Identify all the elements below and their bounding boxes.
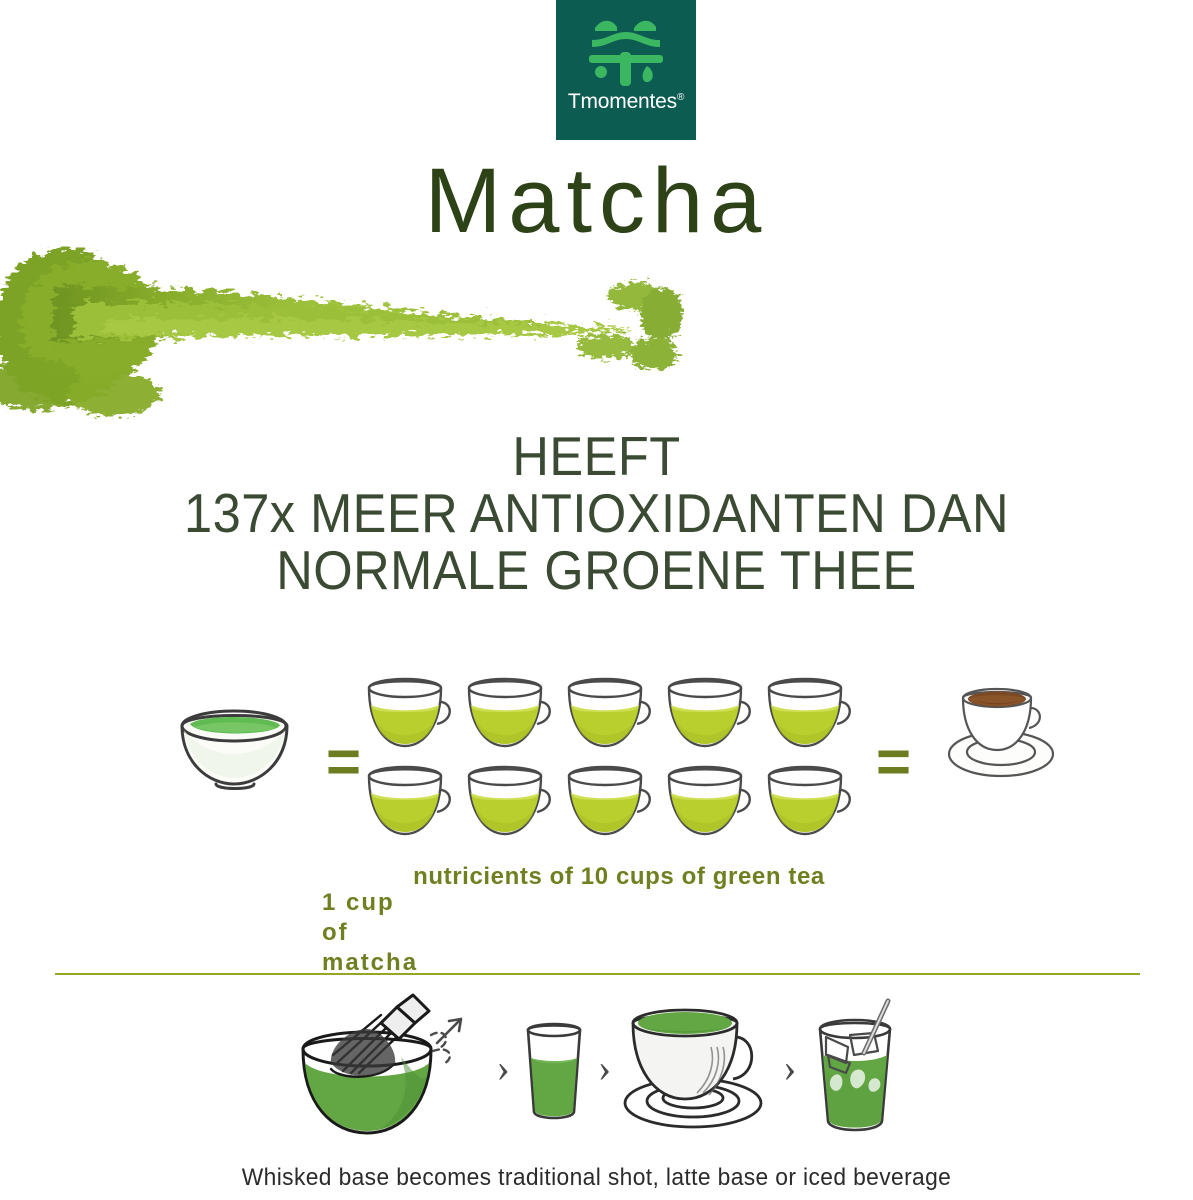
green-tea-cup-icon — [463, 672, 561, 754]
equivalence-section: 1 cup of matcha = nutricients of 10 cups… — [0, 660, 1193, 960]
headline-line-1: HEEFT — [48, 428, 1146, 485]
coffee-cup-icon — [945, 682, 1057, 782]
matcha-bowl-icon — [172, 700, 297, 792]
registered-trademark-icon: ® — [677, 92, 684, 103]
teacup-saucer-icon — [617, 1003, 777, 1133]
brand-logo: Tmomentes® — [556, 0, 696, 140]
green-tea-cups-grid — [363, 672, 863, 848]
process-arrow-1: › — [497, 1048, 510, 1088]
equals-sign-2: = — [876, 732, 911, 792]
matcha-powder-splash-image — [0, 234, 684, 419]
green-tea-cup-icon — [663, 760, 761, 842]
iced-glass-straw-icon — [802, 993, 912, 1143]
page-title: Matcha — [0, 155, 1193, 247]
green-tea-cup-icon — [463, 760, 561, 842]
equals-sign-1: = — [326, 732, 361, 792]
green-tea-cup-icon — [363, 672, 461, 754]
whisk-bowl-icon — [281, 993, 491, 1143]
matcha-bowl-label: 1 cup of matcha — [322, 888, 418, 978]
green-tea-cup-icon — [663, 672, 761, 754]
brand-name: Tmomentes® — [568, 90, 684, 114]
process-flow: › › › — [0, 985, 1193, 1150]
tea-kanji-icon — [587, 14, 665, 88]
process-arrow-3: › — [783, 1048, 796, 1088]
shot-glass-icon — [516, 1008, 592, 1128]
green-tea-cup-icon — [563, 672, 661, 754]
green-tea-cup-icon — [563, 760, 661, 842]
green-tea-cup-icon — [763, 672, 861, 754]
process-arrow-2: › — [598, 1048, 611, 1088]
headline-line-2: 137x MEER ANTIOXIDANTEN DAN — [48, 485, 1146, 542]
green-tea-cups-label: nutricients of 10 cups of green tea — [363, 862, 875, 892]
green-tea-cup-icon — [363, 760, 461, 842]
process-caption: Whisked base becomes traditional shot, l… — [30, 1164, 1163, 1192]
coffee-cup-group: caffeine of 1/2 cup of coffee — [945, 682, 1125, 782]
matcha-bowl-group: 1 cup of matcha — [150, 700, 335, 792]
headline-line-3: NORMALE GROENE THEE — [48, 542, 1146, 599]
headline: HEEFT 137x MEER ANTIOXIDANTEN DAN NORMAL… — [48, 428, 1146, 599]
section-divider — [55, 973, 1140, 975]
green-tea-cup-icon — [763, 760, 861, 842]
